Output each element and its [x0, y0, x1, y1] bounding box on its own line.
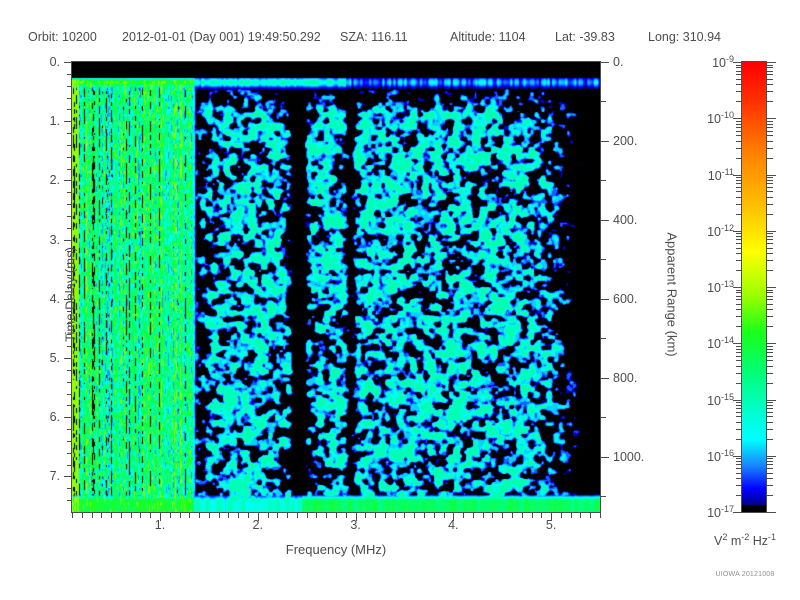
- x-tick-minor: [522, 513, 523, 518]
- y-tick-major-left: [64, 476, 72, 477]
- y-tick-major-right: [601, 62, 609, 63]
- x-tick-minor: [365, 513, 366, 518]
- x-tick-minor: [385, 513, 386, 518]
- colorbar-tick-label: 10-10: [688, 110, 734, 126]
- colorbar-tick-minor-right: [767, 373, 773, 374]
- y-tick-minor-left: [67, 145, 72, 146]
- ionogram-heatmap: [72, 62, 600, 512]
- x-tick-minor: [170, 513, 171, 518]
- y-tick-minor-left: [67, 169, 72, 170]
- x-tick-minor: [131, 513, 132, 518]
- colorbar-tick-minor-right: [767, 71, 773, 72]
- colorbar-tick-minor-left: [736, 101, 742, 102]
- y-tick-major-left: [64, 62, 72, 63]
- colorbar-tick-label: 10-16: [688, 448, 734, 464]
- header-sza: SZA: 116.11: [340, 30, 408, 44]
- x-tick-minor: [502, 513, 503, 518]
- colorbar-tick-minor-left: [736, 468, 742, 469]
- colorbar-tick-minor-right: [767, 124, 773, 125]
- colorbar-tick-minor-right: [767, 239, 773, 240]
- colorbar-tick-minor-left: [736, 65, 742, 66]
- colorbar-tick-minor-left: [736, 478, 742, 479]
- colorbar-tick-minor-left: [736, 360, 742, 361]
- y-tick-major-left: [64, 180, 72, 181]
- colorbar-tick-major-right: [767, 456, 776, 457]
- colorbar-units-label: V2 m-2 Hz-1: [690, 532, 800, 548]
- colorbar-tick-minor-right: [767, 296, 773, 297]
- colorbar-tick-minor-right: [767, 352, 773, 353]
- colorbar-tick-minor-left: [736, 416, 742, 417]
- x-tick-minor: [101, 513, 102, 518]
- colorbar-tick-minor-left: [736, 346, 742, 347]
- x-tick-minor: [326, 513, 327, 518]
- colorbar-tick-major-left: [733, 118, 742, 119]
- colorbar-border-top: [741, 61, 767, 62]
- ionogram-canvas: [72, 62, 600, 512]
- colorbar-tick-minor-left: [736, 495, 742, 496]
- y-tick-minor-left: [67, 192, 72, 193]
- plot-border-top: [71, 61, 601, 62]
- colorbar-tick-minor-left: [736, 366, 742, 367]
- colorbar-tick-minor-right: [767, 204, 773, 205]
- y-tick-label-left: 4.: [0, 292, 60, 306]
- colorbar-tick-minor-right: [767, 177, 773, 178]
- colorbar-tick-minor-left: [736, 429, 742, 430]
- y-tick-minor-left: [67, 405, 72, 406]
- colorbar-tick-minor-right: [767, 485, 773, 486]
- colorbar-tick-minor-left: [736, 239, 742, 240]
- colorbar-tick-minor-right: [767, 270, 773, 271]
- colorbar-tick-minor-right: [767, 416, 773, 417]
- y-tick-label-right: 400.: [613, 213, 637, 227]
- x-tick-minor: [541, 513, 542, 518]
- y-tick-label-right: 0.: [613, 55, 623, 69]
- colorbar-tick-minor-left: [736, 236, 742, 237]
- colorbar-tick-minor-left: [736, 79, 742, 80]
- colorbar-tick-minor-right: [767, 290, 773, 291]
- colorbar-tick-major-right: [767, 231, 776, 232]
- colorbar-tick-minor-left: [736, 356, 742, 357]
- colorbar-tick-minor-left: [736, 248, 742, 249]
- colorbar-tick-minor-right: [767, 346, 773, 347]
- colorbar-tick-minor-right: [767, 422, 773, 423]
- colorbar-tick-minor-right: [767, 214, 773, 215]
- x-tick-minor: [463, 513, 464, 518]
- colorbar-tick-minor-right: [767, 260, 773, 261]
- colorbar-tick-minor-right: [767, 405, 773, 406]
- colorbar-tick-minor-right: [767, 65, 773, 66]
- colorbar-tick-minor-left: [736, 464, 742, 465]
- colorbar-tick-major-left: [733, 400, 742, 401]
- colorbar-tick-minor-right: [767, 91, 773, 92]
- colorbar-gradient: [742, 62, 766, 512]
- colorbar-tick-minor-right: [767, 243, 773, 244]
- colorbar-tick-major-left: [733, 512, 742, 513]
- colorbar-tick-minor-right: [767, 135, 773, 136]
- colorbar-tick-minor-left: [736, 131, 742, 132]
- x-tick-minor: [336, 513, 337, 518]
- colorbar-tick-minor-right: [767, 79, 773, 80]
- colorbar-tick-minor-left: [736, 253, 742, 254]
- x-tick-minor: [189, 513, 190, 518]
- colorbar-tick-minor-right: [767, 236, 773, 237]
- y-tick-minor-left: [67, 441, 72, 442]
- y-tick-minor-right: [601, 338, 606, 339]
- y-tick-minor-right: [601, 417, 606, 418]
- y-tick-minor-right: [601, 496, 606, 497]
- colorbar-tick-minor-right: [767, 248, 773, 249]
- colorbar-tick-minor-left: [736, 299, 742, 300]
- y-tick-minor-left: [67, 157, 72, 158]
- colorbar-tick-minor-left: [736, 127, 742, 128]
- y-tick-minor-left: [67, 98, 72, 99]
- y-tick-minor-left: [67, 500, 72, 501]
- colorbar-tick-minor-left: [736, 349, 742, 350]
- colorbar-tick-minor-left: [736, 316, 742, 317]
- colorbar-tick-minor-left: [736, 296, 742, 297]
- colorbar-tick-major-right: [767, 287, 776, 288]
- colorbar-tick-label: 10-14: [688, 335, 734, 351]
- colorbar-tick-minor-right: [767, 326, 773, 327]
- header-metadata: Orbit: 10200 2012-01-01 (Day 001) 19:49:…: [0, 30, 800, 48]
- colorbar-tick-minor-right: [767, 461, 773, 462]
- colorbar-tick-minor-right: [767, 141, 773, 142]
- x-tick-minor: [424, 513, 425, 518]
- y-tick-minor-right: [601, 180, 606, 181]
- x-tick-minor: [571, 513, 572, 518]
- colorbar-tick-minor-right: [767, 408, 773, 409]
- colorbar-tick-minor-left: [736, 71, 742, 72]
- x-tick-minor: [277, 513, 278, 518]
- colorbar-tick-minor-right: [767, 127, 773, 128]
- colorbar-tick-major-left: [733, 343, 742, 344]
- colorbar-tick-minor-right: [767, 439, 773, 440]
- colorbar-tick-label: 10-12: [688, 223, 734, 239]
- colorbar-tick-minor-right: [767, 121, 773, 122]
- x-tick-minor: [414, 513, 415, 518]
- colorbar-tick-minor-right: [767, 131, 773, 132]
- colorbar-tick-minor-left: [736, 473, 742, 474]
- x-tick-minor: [111, 513, 112, 518]
- colorbar-tick-minor-left: [736, 197, 742, 198]
- header-longitude: Long: 310.94: [648, 30, 721, 44]
- x-tick-label: 2.: [253, 518, 263, 532]
- y-tick-label-right: 600.: [613, 292, 637, 306]
- y-tick-label-left: 5.: [0, 351, 60, 365]
- x-tick-minor: [307, 513, 308, 518]
- colorbar-tick-minor-left: [736, 352, 742, 353]
- colorbar-tick-minor-right: [767, 197, 773, 198]
- x-tick-minor: [297, 513, 298, 518]
- x-tick-label: 4.: [448, 518, 458, 532]
- colorbar-tick-minor-right: [767, 412, 773, 413]
- colorbar-tick-minor-left: [736, 204, 742, 205]
- y-tick-major-right: [601, 220, 609, 221]
- y-tick-label-left: 3.: [0, 233, 60, 247]
- x-tick-minor: [238, 513, 239, 518]
- colorbar-tick-label: 10-13: [688, 279, 734, 295]
- colorbar-tick-minor-left: [736, 292, 742, 293]
- colorbar-tick-label: 10-15: [688, 391, 734, 407]
- colorbar-tick-minor-right: [767, 304, 773, 305]
- x-tick-minor: [287, 513, 288, 518]
- y-tick-label-left: 2.: [0, 173, 60, 187]
- y-tick-minor-left: [67, 394, 72, 395]
- colorbar-tick-minor-right: [767, 101, 773, 102]
- x-tick-minor: [228, 513, 229, 518]
- colorbar-tick-minor-right: [767, 383, 773, 384]
- colorbar-tick-minor-left: [736, 183, 742, 184]
- colorbar-tick-minor-right: [767, 458, 773, 459]
- colorbar-tick-minor-right: [767, 187, 773, 188]
- y-tick-minor-left: [67, 74, 72, 75]
- colorbar-tick-minor-left: [736, 309, 742, 310]
- colorbar-tick-major-left: [733, 456, 742, 457]
- y-tick-minor-right: [601, 259, 606, 260]
- plot-border-right: [600, 62, 601, 512]
- colorbar-tick-minor-right: [767, 299, 773, 300]
- x-tick-minor: [434, 513, 435, 518]
- colorbar-tick-minor-right: [767, 148, 773, 149]
- colorbar-tick-minor-left: [736, 187, 742, 188]
- x-tick-minor: [444, 513, 445, 518]
- colorbar-tick-minor-right: [767, 67, 773, 68]
- x-tick-minor: [82, 513, 83, 518]
- x-tick-label: 3.: [350, 518, 360, 532]
- x-tick-minor: [140, 513, 141, 518]
- y-tick-label-right: 1000.: [613, 450, 644, 464]
- y-tick-label-left: 0.: [0, 55, 60, 69]
- colorbar-border-bottom: [741, 512, 767, 513]
- y-tick-label-right: 200.: [613, 134, 637, 148]
- colorbar-tick-label: 10-9: [688, 54, 734, 70]
- y-tick-minor-left: [67, 488, 72, 489]
- y-tick-major-right: [601, 141, 609, 142]
- colorbar-tick-minor-right: [767, 183, 773, 184]
- colorbar-tick-minor-right: [767, 478, 773, 479]
- colorbar-tick-minor-right: [767, 495, 773, 496]
- x-tick-minor: [219, 513, 220, 518]
- colorbar-tick-minor-right: [767, 233, 773, 234]
- colorbar-tick-label: 10-17: [688, 504, 734, 520]
- colorbar-tick-major-right: [767, 118, 776, 119]
- colorbar-tick-minor-left: [736, 191, 742, 192]
- y-tick-minor-left: [67, 86, 72, 87]
- header-latitude: Lat: -39.83: [555, 30, 615, 44]
- x-tick-label: 5.: [546, 518, 556, 532]
- x-tick-minor: [590, 513, 591, 518]
- colorbar-tick-minor-left: [736, 121, 742, 122]
- colorbar-tick-minor-right: [767, 429, 773, 430]
- y-tick-major-right: [601, 457, 609, 458]
- colorbar-tick-minor-right: [767, 366, 773, 367]
- colorbar-tick-major-left: [733, 62, 742, 63]
- colorbar-tick-minor-left: [736, 408, 742, 409]
- colorbar-tick-minor-left: [736, 422, 742, 423]
- y-tick-major-left: [64, 121, 72, 122]
- header-altitude: Altitude: 1104: [450, 30, 526, 44]
- y-tick-label-left: 6.: [0, 410, 60, 424]
- colorbar-tick-major-left: [733, 231, 742, 232]
- colorbar-tick-minor-left: [736, 141, 742, 142]
- colorbar-tick-minor-left: [736, 290, 742, 291]
- x-tick-minor: [404, 513, 405, 518]
- colorbar-tick-minor-left: [736, 304, 742, 305]
- x-tick-minor: [316, 513, 317, 518]
- colorbar-tick-minor-right: [767, 468, 773, 469]
- x-tick-minor: [492, 513, 493, 518]
- colorbar-tick-minor-left: [736, 233, 742, 234]
- colorbar-tick-major-left: [733, 175, 742, 176]
- colorbar-tick-minor-left: [736, 177, 742, 178]
- colorbar-tick-minor-right: [767, 349, 773, 350]
- x-tick-minor: [561, 513, 562, 518]
- x-tick-minor: [532, 513, 533, 518]
- colorbar-tick-minor-left: [736, 84, 742, 85]
- colorbar-tick-minor-right: [767, 464, 773, 465]
- y-tick-label-left: 7.: [0, 469, 60, 483]
- x-tick-minor: [72, 513, 73, 518]
- x-tick-minor: [92, 513, 93, 518]
- colorbar-tick-minor-left: [736, 260, 742, 261]
- colorbar-tick-minor-right: [767, 84, 773, 85]
- x-tick-label: 1.: [155, 518, 165, 532]
- colorbar-tick-minor-left: [736, 405, 742, 406]
- colorbar-tick-minor-left: [736, 373, 742, 374]
- x-tick-minor: [395, 513, 396, 518]
- colorbar-tick-minor-right: [767, 360, 773, 361]
- colorbar-tick-minor-left: [736, 458, 742, 459]
- y-tick-minor-left: [67, 204, 72, 205]
- colorbar-tick-minor-right: [767, 473, 773, 474]
- colorbar-tick-minor-right: [767, 309, 773, 310]
- colorbar-tick-minor-left: [736, 67, 742, 68]
- x-tick-minor: [180, 513, 181, 518]
- colorbar-tick-minor-right: [767, 292, 773, 293]
- colorbar: [742, 62, 766, 512]
- x-tick-minor: [346, 513, 347, 518]
- header-datetime: 2012-01-01 (Day 001) 19:49:50.292: [122, 30, 321, 44]
- x-tick-minor: [375, 513, 376, 518]
- colorbar-tick-minor-left: [736, 243, 742, 244]
- x-tick-minor: [199, 513, 200, 518]
- colorbar-tick-label: 10-11: [688, 166, 734, 182]
- y-tick-minor-left: [67, 382, 72, 383]
- colorbar-tick-minor-left: [736, 91, 742, 92]
- colorbar-tick-minor-left: [736, 74, 742, 75]
- colorbar-tick-minor-left: [736, 383, 742, 384]
- y-tick-major-left: [64, 417, 72, 418]
- colorbar-tick-minor-right: [767, 191, 773, 192]
- y-tick-label-left: 1.: [0, 114, 60, 128]
- y-axis-title-left: Time Delay (ms): [63, 215, 78, 375]
- colorbar-tick-minor-right: [767, 356, 773, 357]
- y-tick-minor-left: [67, 133, 72, 134]
- colorbar-tick-minor-left: [736, 461, 742, 462]
- colorbar-tick-major-right: [767, 343, 776, 344]
- colorbar-tick-minor-left: [736, 402, 742, 403]
- colorbar-tick-major-right: [767, 512, 776, 513]
- colorbar-tick-minor-left: [736, 214, 742, 215]
- y-tick-label-right: 800.: [613, 371, 637, 385]
- x-tick-minor: [268, 513, 269, 518]
- x-tick-minor: [580, 513, 581, 518]
- colorbar-tick-minor-right: [767, 158, 773, 159]
- colorbar-tick-minor-right: [767, 316, 773, 317]
- colorbar-tick-minor-right: [767, 253, 773, 254]
- x-axis-title: Frequency (MHz): [0, 542, 672, 557]
- colorbar-tick-minor-left: [736, 412, 742, 413]
- x-tick-minor: [473, 513, 474, 518]
- x-tick-minor: [600, 513, 601, 518]
- colorbar-tick-major-left: [733, 287, 742, 288]
- y-tick-minor-left: [67, 465, 72, 466]
- colorbar-tick-minor-left: [736, 124, 742, 125]
- x-tick-minor: [512, 513, 513, 518]
- y-tick-minor-left: [67, 109, 72, 110]
- colorbar-tick-minor-left: [736, 135, 742, 136]
- header-orbit: Orbit: 10200: [28, 30, 97, 44]
- colorbar-tick-major-right: [767, 400, 776, 401]
- colorbar-tick-minor-left: [736, 485, 742, 486]
- y-tick-major-right: [601, 378, 609, 379]
- x-tick-minor: [209, 513, 210, 518]
- colorbar-tick-minor-right: [767, 74, 773, 75]
- colorbar-tick-minor-right: [767, 180, 773, 181]
- colorbar-tick-major-right: [767, 175, 776, 176]
- y-tick-major-right: [601, 299, 609, 300]
- x-tick-minor: [150, 513, 151, 518]
- y-tick-minor-left: [67, 453, 72, 454]
- colorbar-tick-minor-left: [736, 270, 742, 271]
- y-axis-title-right: Apparent Range (km): [665, 215, 680, 375]
- colorbar-tick-minor-left: [736, 326, 742, 327]
- colorbar-tick-minor-left: [736, 439, 742, 440]
- colorbar-tick-major-right: [767, 62, 776, 63]
- credit-label: UIOWA 20121008: [690, 571, 800, 578]
- y-tick-minor-right: [601, 101, 606, 102]
- colorbar-tick-minor-left: [736, 148, 742, 149]
- x-tick-minor: [248, 513, 249, 518]
- x-tick-minor: [121, 513, 122, 518]
- colorbar-tick-minor-left: [736, 180, 742, 181]
- colorbar-tick-minor-right: [767, 402, 773, 403]
- y-tick-minor-left: [67, 429, 72, 430]
- x-tick-minor: [483, 513, 484, 518]
- colorbar-tick-minor-left: [736, 158, 742, 159]
